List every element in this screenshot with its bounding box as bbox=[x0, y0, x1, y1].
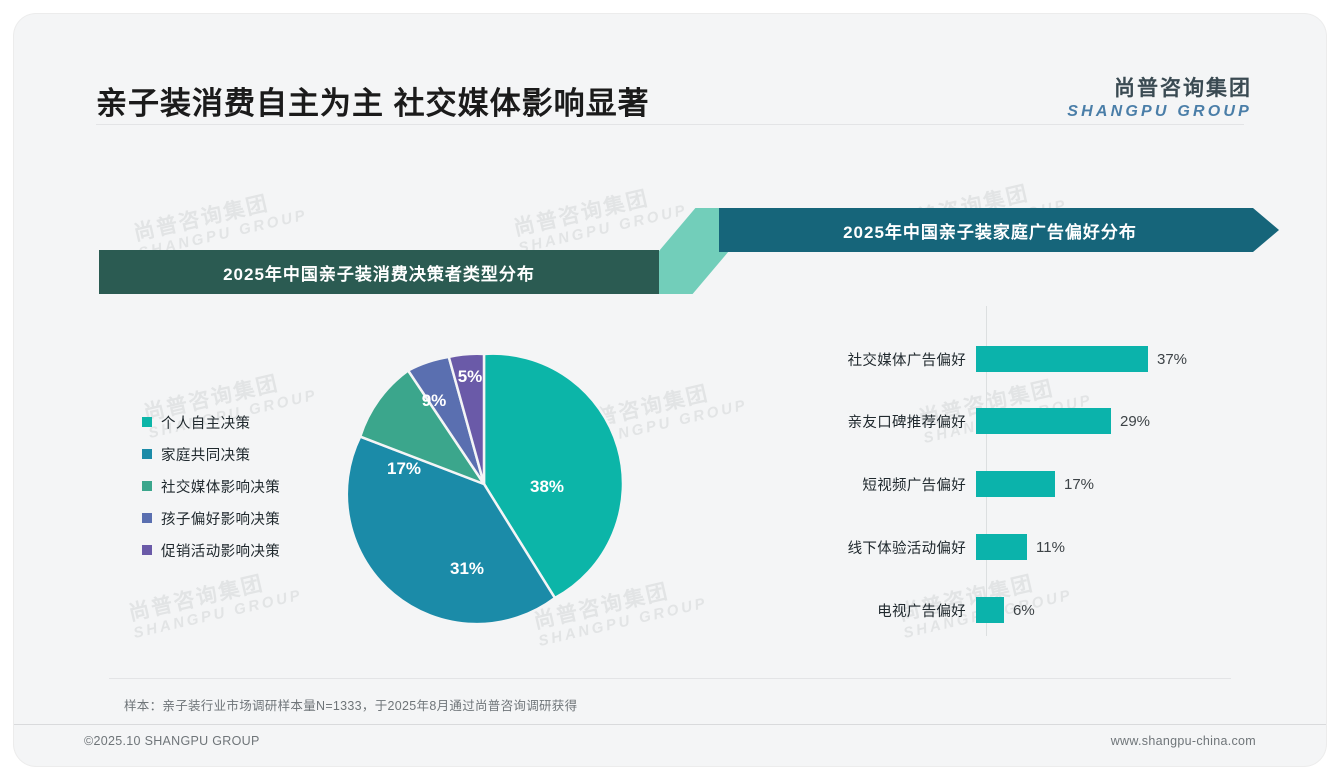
legend-swatch-icon bbox=[142, 545, 152, 555]
bar-fill[interactable] bbox=[976, 408, 1111, 434]
bar-row[interactable]: 电视广告偏好 6% bbox=[804, 595, 1274, 625]
chart-title-right: 2025年中国亲子装家庭广告偏好分布 bbox=[843, 218, 1137, 243]
legend-item[interactable]: 社交媒体影响决策 bbox=[142, 470, 280, 502]
bar-category-label: 短视频广告偏好 bbox=[804, 474, 976, 495]
brand-logo: 尚普咨询集团 SHANGPU GROUP bbox=[1067, 72, 1252, 121]
legend-swatch-icon bbox=[142, 417, 152, 427]
pie-value-label: 38% bbox=[530, 477, 564, 496]
pie-value-label: 5% bbox=[458, 367, 483, 386]
logo-text-en: SHANGPU GROUP bbox=[1067, 103, 1252, 121]
note-divider bbox=[109, 678, 1231, 679]
page-title: 亲子装消费自主为主 社交媒体影响显著 bbox=[96, 78, 650, 123]
page-header: 亲子装消费自主为主 社交媒体影响显著 尚普咨询集团 SHANGPU GROUP bbox=[14, 14, 1326, 122]
bar-value-label: 37% bbox=[1157, 351, 1187, 368]
legend-item[interactable]: 孩子偏好影响决策 bbox=[142, 502, 280, 534]
bar-category-label: 线下体验活动偏好 bbox=[804, 537, 976, 558]
bar-fill[interactable] bbox=[976, 597, 1004, 623]
logo-text-cn: 尚普咨询集团 bbox=[1067, 72, 1252, 102]
bar-value-label: 11% bbox=[1036, 539, 1065, 556]
pie-chart-svg: 38% 31% 17% 9% 5% bbox=[334, 334, 634, 634]
legend-swatch-icon bbox=[142, 449, 152, 459]
bar-row[interactable]: 短视频广告偏好 17% bbox=[804, 469, 1274, 499]
bar-fill[interactable] bbox=[976, 534, 1027, 560]
slide-card: 尚普咨询集团SHANGPU GROUP 尚普咨询集团SHANGPU GROUP … bbox=[14, 14, 1326, 766]
legend-item[interactable]: 促销活动影响决策 bbox=[142, 534, 280, 566]
bar-fill[interactable] bbox=[976, 471, 1055, 497]
infographic-page: 尚普咨询集团SHANGPU GROUP 尚普咨询集团SHANGPU GROUP … bbox=[0, 0, 1340, 780]
legend-label: 促销活动影响决策 bbox=[161, 540, 280, 561]
website-link[interactable]: www.shangpu-china.com bbox=[1111, 734, 1256, 748]
chart-title-banner-left: 2025年中国亲子装消费决策者类型分布 bbox=[99, 250, 659, 294]
chart-title-banner-right: 2025年中国亲子装家庭广告偏好分布 bbox=[719, 208, 1279, 252]
pie-value-label: 9% bbox=[422, 391, 447, 410]
header-divider bbox=[96, 124, 1244, 125]
legend-label: 孩子偏好影响决策 bbox=[161, 508, 280, 529]
bar-category-label: 电视广告偏好 bbox=[804, 600, 976, 621]
banner-connector bbox=[659, 208, 729, 294]
pie-chart-section: 个人自主决策 家庭共同决策 社交媒体影响决策 孩子偏好影响决策 促销活动影响决策 bbox=[104, 314, 664, 654]
bar-chart-section: 社交媒体广告偏好 37% 亲友口碑推荐偏好 29% 短视频广告偏好 17% 线下… bbox=[804, 306, 1274, 656]
copyright-text: ©2025.10 SHANGPU GROUP bbox=[84, 734, 260, 748]
footer-divider bbox=[14, 724, 1326, 725]
legend-swatch-icon bbox=[142, 513, 152, 523]
pie-legend: 个人自主决策 家庭共同决策 社交媒体影响决策 孩子偏好影响决策 促销活动影响决策 bbox=[142, 406, 280, 566]
pie-value-label: 31% bbox=[450, 559, 484, 578]
legend-swatch-icon bbox=[142, 481, 152, 491]
pie-slices bbox=[347, 354, 623, 624]
bar-value-label: 6% bbox=[1013, 602, 1035, 619]
bar-value-label: 17% bbox=[1064, 476, 1094, 493]
bar-fill[interactable] bbox=[976, 346, 1148, 372]
sample-note: 样本：亲子装行业市场调研样本量N=1333，于2025年8月通过尚普咨询调研获得 bbox=[124, 695, 577, 714]
bar-category-label: 亲友口碑推荐偏好 bbox=[804, 411, 976, 432]
legend-item[interactable]: 个人自主决策 bbox=[142, 406, 280, 438]
bar-row[interactable]: 亲友口碑推荐偏好 29% bbox=[804, 406, 1274, 436]
bar-row[interactable]: 社交媒体广告偏好 37% bbox=[804, 344, 1274, 374]
legend-label: 个人自主决策 bbox=[161, 412, 250, 433]
pie-value-label: 17% bbox=[387, 459, 421, 478]
bar-category-label: 社交媒体广告偏好 bbox=[804, 349, 976, 370]
legend-item[interactable]: 家庭共同决策 bbox=[142, 438, 280, 470]
chart-title-left: 2025年中国亲子装消费决策者类型分布 bbox=[223, 260, 535, 285]
legend-label: 社交媒体影响决策 bbox=[161, 476, 280, 497]
bar-row[interactable]: 线下体验活动偏好 11% bbox=[804, 532, 1274, 562]
legend-label: 家庭共同决策 bbox=[161, 444, 250, 465]
bar-value-label: 29% bbox=[1120, 413, 1150, 430]
